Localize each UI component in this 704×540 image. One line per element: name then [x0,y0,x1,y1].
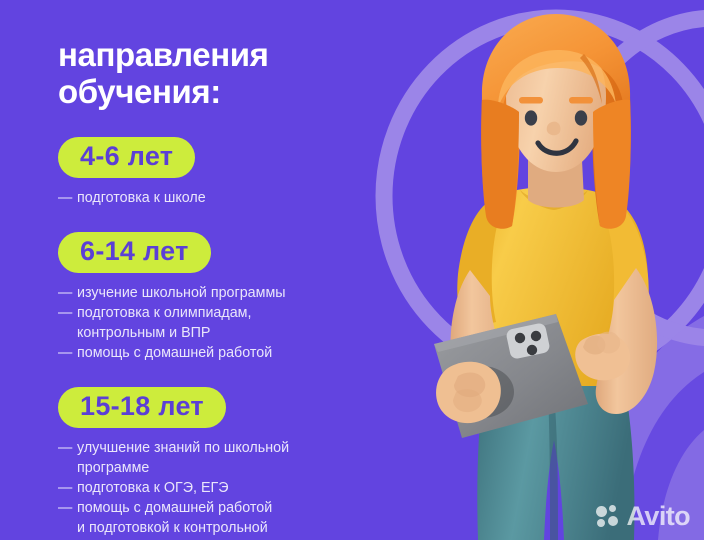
list-item: — помощь с домашней работой [58,499,400,518]
list-item: — изучение школьной программы [58,284,400,303]
list-item: — подготовка к олимпиадам, [58,304,400,323]
benefit-list-15-18: — улучшение знаний по школьной программе… [58,439,400,538]
list-item-text: улучшение знаний по школьной [77,439,400,458]
list-item: — подготовка к школе [58,189,400,208]
list-item-text: подготовка к школе [77,189,400,208]
list-item-text: программе [77,459,400,478]
avito-wordmark: Avito [627,503,691,530]
eyebrow-right [569,97,593,104]
dash-marker: — [58,344,75,363]
dash-marker: — [58,304,75,323]
dash-marker: — [58,284,75,303]
age-group-block: 4-6 лет — подготовка к школе [58,137,400,208]
list-item: — подготовка к ОГЭ, ЕГЭ [58,479,400,498]
avito-watermark: Avito [596,503,691,530]
benefit-list-6-14: — изучение школьной программы — подготов… [58,284,400,363]
eyebrow-left [519,97,543,104]
age-group-block: 15-18 лет — улучшение знаний по школьной… [58,387,400,538]
age-badge-4-6[interactable]: 4-6 лет [58,137,195,178]
list-item-text: изучение школьной программы [77,284,400,303]
character-illustration [386,0,704,540]
list-item: — помощь с домашней работой [58,344,400,363]
list-item-text: и подготовкой к контрольной [77,519,400,538]
list-item: программе [58,459,400,478]
eye-right [575,110,587,125]
benefit-list-4-6: — подготовка к школе [58,189,400,208]
list-item: — улучшение знаний по школьной [58,439,400,458]
dash-marker: — [58,439,75,458]
dash-marker: — [58,479,75,498]
list-item-text: контрольным и ВПР [77,324,400,343]
age-group-block: 6-14 лет — изучение школьной программы —… [58,232,400,363]
list-item: контрольным и ВПР [58,324,400,343]
list-item-text: подготовка к ОГЭ, ЕГЭ [77,479,400,498]
page-title: направления обучения: [58,36,400,111]
list-item: и подготовкой к контрольной [58,519,400,538]
list-item-text: помощь с домашней работой [77,499,400,518]
dash-marker: — [58,189,75,208]
age-badge-6-14[interactable]: 6-14 лет [58,232,211,273]
dash-marker: — [58,499,75,518]
content-column: направления обучения: 4-6 лет — подготов… [0,0,400,540]
avito-logo-icon [596,505,620,529]
promo-poster: направления обучения: 4-6 лет — подготов… [0,0,704,540]
list-item-text: помощь с домашней работой [77,344,400,363]
eye-left [525,110,537,125]
age-badge-15-18[interactable]: 15-18 лет [58,387,226,428]
list-item-text: подготовка к олимпиадам, [77,304,400,323]
